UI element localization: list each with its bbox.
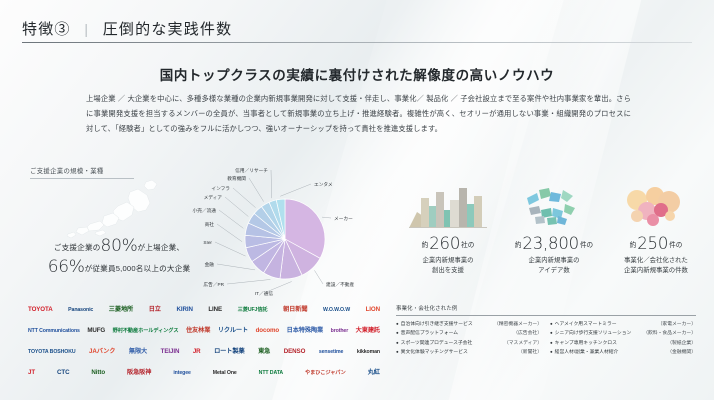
examples-title: 事業化・会社化された例 — [396, 304, 696, 315]
pie-leader-line — [227, 279, 270, 284]
example-item: ●経営人材/副業・兼業人材紹介（金融機関） — [550, 348, 696, 357]
stat-value-80: 80% — [101, 236, 138, 256]
metric-suffix: 社の — [461, 242, 474, 249]
pie-leader-line — [219, 210, 243, 228]
metric-value: 23,800 — [522, 234, 579, 253]
metric-card-launched: 約250件の 事業化／会社化された 企業内新規事業の件数 — [600, 178, 712, 276]
example-item: ●音声配信プラットフォーム（広告会社） — [396, 329, 542, 338]
metric-desc-line1: 企業内新規事業の — [498, 256, 610, 266]
example-industry-tag: （新聞社） — [518, 348, 542, 357]
examples-column-right: ●ヘアメイク用スマートミラー（家電メーカー）●シニア向け歩行支援ソリューション（… — [550, 320, 696, 357]
example-name: キャンプ専用キッチンクロス — [555, 339, 617, 348]
metric-description: 事業化／会社化された 企業内新規事業の件数 — [600, 256, 712, 276]
page-title-sub: 圧倒的な実践件数 — [103, 22, 233, 38]
metric-description: 企業内新規事業の アイデア数 — [498, 256, 610, 276]
pie-leader-line — [271, 170, 272, 198]
metric-description: 企業内新規事業の 創出を支援 — [392, 256, 504, 276]
title-separator: | — [85, 22, 89, 38]
bullet-icon: ● — [550, 339, 553, 348]
client-logo: 朝日新聞 — [283, 307, 307, 313]
pie-slice-label: SIer — [203, 240, 212, 245]
example-name: 自治体向け引き継ぎ支援サービス — [401, 320, 473, 329]
client-logo: 東急 — [258, 349, 270, 355]
client-logo: JT — [28, 370, 35, 376]
logo-row: JTCTCNitto阪急阪神integeeMetal OneNTT DATAやま… — [26, 363, 382, 384]
bullet-icon: ● — [396, 339, 399, 348]
example-industry-tag: （家電メーカー） — [658, 320, 696, 329]
metric-number: 約23,800件の — [498, 234, 610, 254]
lead-body-text: 上場企業 ／ 大企業を中心に、多種多様な業種の企業内新規事業開発に対して支援・伴… — [86, 92, 631, 137]
client-logo: やまひこジャパン — [305, 371, 346, 376]
example-name: 異文化体験マッチングサービス — [401, 348, 468, 357]
example-name: 経営人材/副業・兼業人材紹介 — [555, 348, 619, 357]
metric-number: 約260社の — [392, 234, 504, 254]
client-logo: LION — [366, 307, 380, 313]
metric-prefix: 約 — [515, 242, 522, 249]
client-logo: JAバンク — [89, 349, 115, 355]
client-logo: DENSO — [284, 349, 306, 355]
metric-prefix: 約 — [630, 242, 637, 249]
pie-slice-label: エンタメ — [314, 181, 333, 188]
metric-desc-line2: 創出を支援 — [392, 266, 504, 276]
pie-leader-line — [225, 197, 248, 217]
scattered-shapes-illustration — [498, 178, 610, 228]
lead-heading: 国内トップクラスの実績に裏付けされた解像度の高いノウハウ — [0, 64, 714, 84]
metric-card-ideas: 約23,800件の 企業内新規事業の アイデア数 — [498, 178, 610, 276]
bullet-icon: ● — [550, 329, 553, 338]
example-name: ヘアメイク用スマートミラー — [555, 320, 617, 329]
metric-desc-line1: 企業内新規事業の — [392, 256, 504, 266]
client-logo: NTT Communications — [28, 329, 80, 334]
client-logo: LINE — [208, 307, 222, 313]
examples-section: 事業化・会社化された例 ●自治体向け引き継ぎ支援サービス（精密機器メーカー）●音… — [396, 304, 696, 357]
client-logo: CTC — [57, 370, 69, 376]
bullet-icon: ● — [396, 320, 399, 329]
pie-leader-line — [217, 264, 255, 270]
circle-cluster-illustration — [600, 178, 712, 228]
japan-map-icon — [60, 178, 170, 240]
metric-suffix: 件の — [669, 242, 682, 249]
pie-leader-line — [314, 270, 323, 284]
bullet-icon: ● — [396, 329, 399, 338]
client-logo: Metal One — [213, 371, 237, 376]
client-logo: brother — [331, 329, 348, 334]
client-logo: 三菱UFJ信託 — [238, 308, 268, 313]
pie-slice-label: 商社 — [205, 221, 215, 228]
client-logo: TOYOTA BOSHOKU — [28, 350, 76, 355]
pie-leader-line — [280, 184, 311, 196]
page-title-main: 特徴③ — [22, 22, 71, 38]
metric-card-companies: 約260社の 企業内新規事業の 創出を支援 — [392, 178, 504, 276]
client-logo: JR — [193, 349, 201, 355]
bullet-icon: ● — [550, 348, 553, 357]
pie-slice-label: 小売／流通 — [193, 207, 217, 214]
examples-divider — [396, 315, 696, 316]
bullet-icon: ● — [550, 320, 553, 329]
pie-slice-label: 金融 — [205, 261, 215, 268]
example-industry-tag: （金融機関） — [667, 348, 696, 357]
client-logo: integee — [173, 371, 190, 376]
pie-leader-line — [217, 224, 242, 242]
client-logo: 日本特殊陶業 — [287, 328, 324, 334]
logo-row: TOYOTAPanasonic三菱地所日立KIRINLINE三菱UFJ信託朝日新… — [26, 300, 382, 321]
example-industry-tag: （飲料・食品メーカー） — [643, 329, 696, 338]
pie-chart-svg: メーカー建設／不動産IT／通信広告／PR金融SIer商社小売／流通メディアインフ… — [186, 164, 386, 296]
bullet-icon: ● — [396, 348, 399, 357]
pie-slice-label: 信用／リサーチ — [235, 167, 268, 174]
example-name: スポーツ関連プロデュース子会社 — [401, 339, 473, 348]
example-item: ●自治体向け引き継ぎ支援サービス（精密機器メーカー） — [396, 320, 542, 329]
industry-pie-chart: メーカー建設／不動産IT／通信広告／PR金融SIer商社小売／流通メディアインフ… — [186, 164, 386, 296]
page-title: 特徴③ | 圧倒的な実践件数 — [22, 18, 232, 39]
example-industry-tag: （製紙企業） — [667, 339, 696, 348]
pie-leader-line — [233, 188, 256, 208]
stat-suffix: が上場企業、 — [137, 243, 184, 252]
example-industry-tag: （精密機器メーカー） — [494, 320, 542, 329]
client-logo: Panasonic — [68, 308, 93, 313]
metric-suffix: 件の — [580, 242, 593, 249]
pie-slice-label: 建設／不動産 — [326, 281, 354, 288]
logo-row: TOYOTA BOSHOKUJAバンク無限大TEIJINJRロート製薬東急DEN… — [26, 342, 382, 363]
metric-desc-line2: アイデア数 — [498, 266, 610, 276]
client-logo: 阪急阪神 — [127, 370, 151, 376]
example-industry-tag: （広告会社） — [513, 329, 542, 338]
client-logo: docomo — [256, 328, 279, 334]
pie-slice-label: インフラ — [211, 186, 230, 192]
metric-value: 250 — [637, 234, 668, 253]
client-logo: ロート製薬 — [214, 349, 244, 355]
metric-number: 約250件の — [600, 234, 712, 254]
logo-row: NTT CommunicationsMUFG野村不動産ホールディングス住友林業リ… — [26, 321, 382, 342]
metric-desc-line2: 企業内新規事業の件数 — [600, 266, 712, 276]
client-logo: 三菱地所 — [109, 307, 133, 313]
stat-prefix: ご支援企業の — [54, 243, 101, 252]
client-logo: 住友林業 — [186, 328, 210, 334]
pie-slice-label: メディア — [204, 194, 223, 201]
pie-leader-line — [215, 242, 246, 256]
client-logo: Nitto — [91, 370, 105, 376]
client-logo: リクルート — [218, 328, 248, 334]
metric-prefix: 約 — [422, 242, 429, 249]
pie-leader-line — [322, 217, 331, 218]
client-logo: 丸紅 — [368, 370, 380, 376]
example-item: ●シニア向け歩行支援ソリューション（飲料・食品メーカー） — [550, 329, 696, 338]
client-logo: NTT DATA — [259, 371, 283, 376]
client-logo: 無限大 — [129, 349, 147, 355]
stat-value-66: 66% — [48, 257, 85, 277]
panel-label: ご支援企業の規模・業種 — [30, 166, 104, 178]
client-logo: W.O.W.O.W — [323, 308, 350, 313]
example-item: ●スポーツ関連プロデュース子会社（マスメディア） — [396, 339, 542, 348]
client-logo: MUFG — [87, 328, 105, 334]
example-industry-tag: （マスメディア） — [504, 339, 542, 348]
example-name: 音声配信プラットフォーム — [401, 329, 458, 338]
client-logo-grid: TOYOTAPanasonic三菱地所日立KIRINLINE三菱UFJ信託朝日新… — [26, 300, 382, 384]
example-item: ●キャンプ専用キッチンクロス（製紙企業） — [550, 339, 696, 348]
client-logo: KIRIN — [176, 307, 192, 313]
buildings-illustration — [392, 178, 504, 228]
client-logo: 日立 — [149, 307, 161, 313]
stat-suffix-2: が従業員5,000名以上の大企業 — [85, 264, 191, 273]
pie-leader-line — [249, 178, 264, 202]
example-item: ●ヘアメイク用スマートミラー（家電メーカー） — [550, 320, 696, 329]
metric-value: 260 — [429, 234, 460, 253]
metric-desc-line1: 事業化／会社化された — [600, 256, 712, 266]
example-item: ●異文化体験マッチングサービス（新聞社） — [396, 348, 542, 357]
pie-slice-label: メーカー — [334, 216, 353, 222]
client-logo: TEIJIN — [161, 349, 180, 355]
example-name: シニア向け歩行支援ソリューション — [555, 329, 632, 338]
client-logo: sensetime — [319, 350, 343, 355]
pie-slice-label: IT／通信 — [255, 290, 274, 296]
client-logo: 大東建託 — [356, 328, 380, 334]
examples-column-left: ●自治体向け引き継ぎ支援サービス（精密機器メーカー）●音声配信プラットフォーム（… — [396, 320, 542, 357]
pie-slice-label: 教育機関 — [227, 175, 246, 182]
title-divider — [22, 42, 692, 43]
pie-slice-label: 広告／PR — [203, 281, 224, 288]
client-logo: kikkoman — [357, 350, 380, 355]
client-logo: TOYOTA — [28, 307, 53, 313]
client-logo: 野村不動産ホールディングス — [113, 329, 179, 334]
